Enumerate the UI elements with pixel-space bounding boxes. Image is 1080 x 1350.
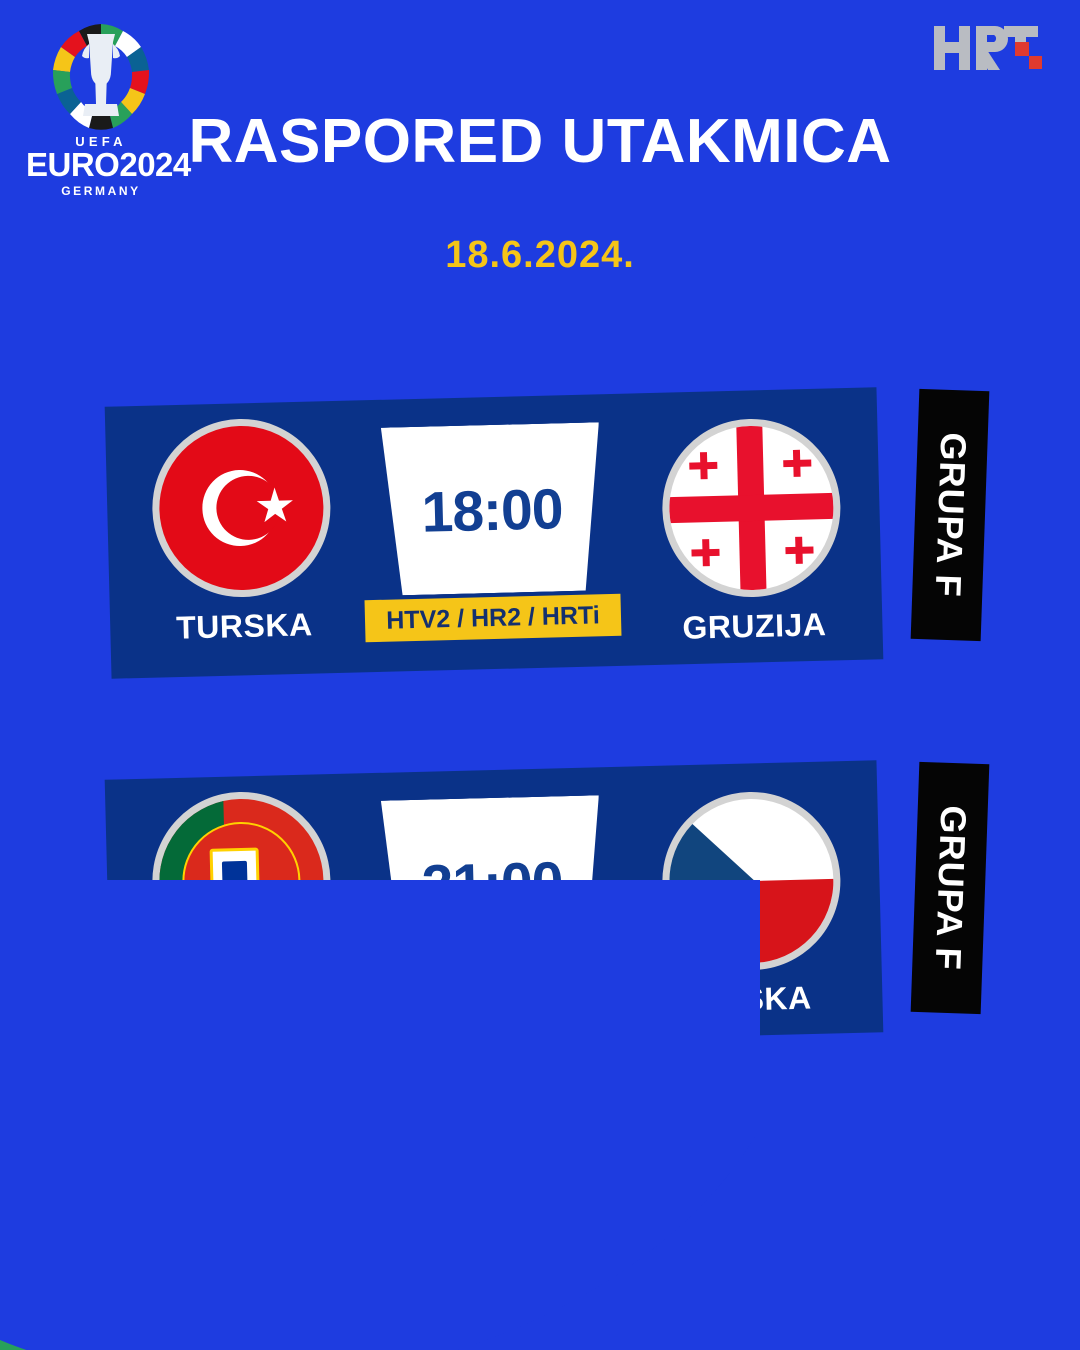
georgia-flag-icon — [660, 417, 842, 599]
group-tab: GRUPA F — [911, 762, 990, 1014]
host-country-label: GERMANY — [26, 184, 176, 198]
group-tab: GRUPA F — [911, 389, 990, 641]
home-team-name: TURSKA — [129, 605, 360, 648]
header: UEFA EURO2024 GERMANY — [0, 0, 1080, 300]
match-row: TURSKA 18:00 GRUZIJA HTV2 / HR2 / HRTi G… — [0, 372, 1080, 692]
group-label: GRUPA F — [926, 432, 974, 598]
page-title: RASPORED UTAKMICA — [0, 106, 1080, 177]
broadcast-channels-bar: HTV2 / HR2 / HRTi — [365, 594, 622, 642]
hrt-logo-icon — [932, 22, 1042, 84]
away-team-name: GRUZIJA — [639, 605, 870, 648]
match-time-badge: 18:00 — [381, 422, 603, 595]
euro-2024-ribbon-pattern — [0, 880, 760, 1350]
match-time: 18:00 — [421, 476, 563, 546]
turkey-flag-icon — [150, 417, 332, 599]
home-team: TURSKA — [124, 416, 360, 648]
broadcast-channels: HTV2 / HR2 / HRTi — [386, 601, 600, 635]
page-date: 18.6.2024. — [0, 234, 1080, 277]
away-team: GRUZIJA — [634, 416, 870, 648]
group-label: GRUPA F — [926, 805, 974, 971]
ribbon-arc-mask — [0, 880, 760, 1350]
